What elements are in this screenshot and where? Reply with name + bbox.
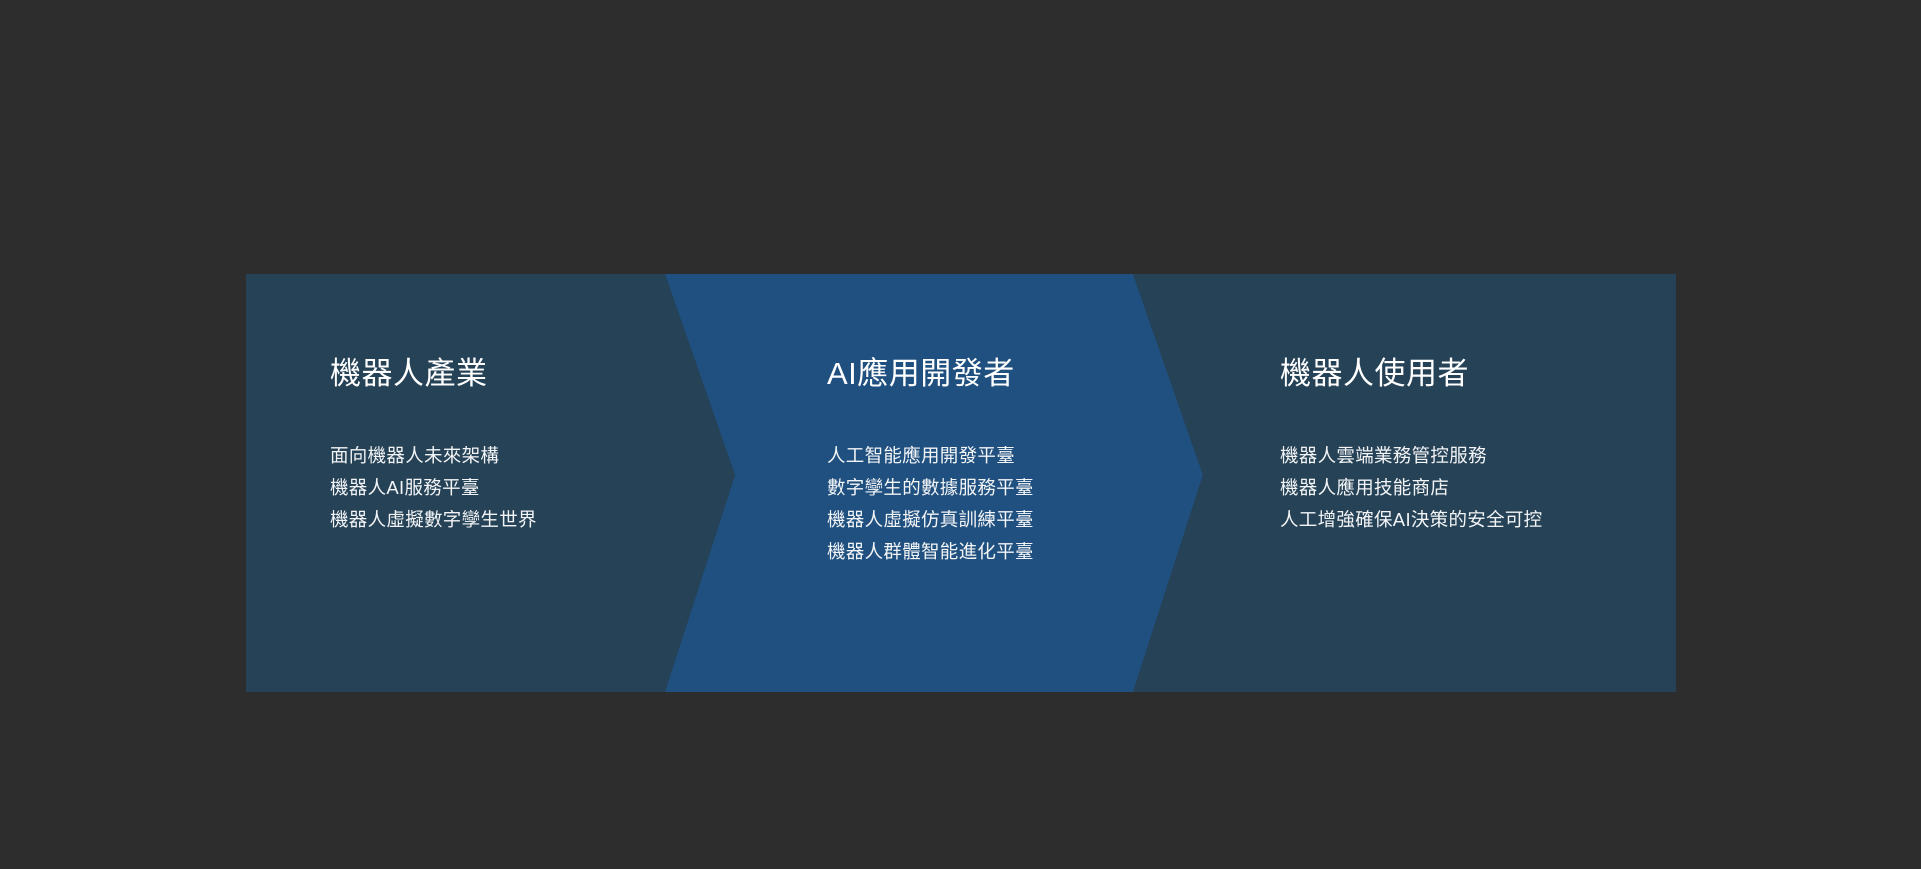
chevron-segment-2: AI應用開發者 人工智能應用開發平臺 數字孿生的數據服務平臺 機器人虛擬仿真訓練… <box>827 274 1207 692</box>
list-item: 機器人虛擬數字孿生世界 <box>330 504 537 536</box>
segment-2-item-list: 人工智能應用開發平臺 數字孿生的數據服務平臺 機器人虛擬仿真訓練平臺 機器人群體… <box>827 440 1034 568</box>
list-item: 機器人應用技能商店 <box>1280 472 1542 504</box>
chevron-diagram: 機器人產業 面向機器人未來架構 機器人AI服務平臺 機器人虛擬數字孿生世界 AI… <box>246 274 1676 692</box>
list-item: 數字孿生的數據服務平臺 <box>827 472 1034 504</box>
list-item: 人工智能應用開發平臺 <box>827 440 1034 472</box>
segment-2-heading: AI應用開發者 <box>827 354 1015 394</box>
chevron-segment-1: 機器人產業 面向機器人未來架構 機器人AI服務平臺 機器人虛擬數字孿生世界 <box>330 274 710 692</box>
list-item: 機器人雲端業務管控服務 <box>1280 440 1542 472</box>
segment-1-item-list: 面向機器人未來架構 機器人AI服務平臺 機器人虛擬數字孿生世界 <box>330 440 537 536</box>
list-item: 面向機器人未來架構 <box>330 440 537 472</box>
list-item: 機器人虛擬仿真訓練平臺 <box>827 504 1034 536</box>
list-item: 機器人群體智能進化平臺 <box>827 536 1034 568</box>
chevron-segment-3: 機器人使用者 機器人雲端業務管控服務 機器人應用技能商店 人工增強確保AI決策的… <box>1280 274 1680 692</box>
segment-1-heading: 機器人產業 <box>330 354 488 394</box>
segment-3-item-list: 機器人雲端業務管控服務 機器人應用技能商店 人工增強確保AI決策的安全可控 <box>1280 440 1542 536</box>
segment-3-heading: 機器人使用者 <box>1280 354 1469 394</box>
list-item: 人工增強確保AI決策的安全可控 <box>1280 504 1542 536</box>
list-item: 機器人AI服務平臺 <box>330 472 537 504</box>
